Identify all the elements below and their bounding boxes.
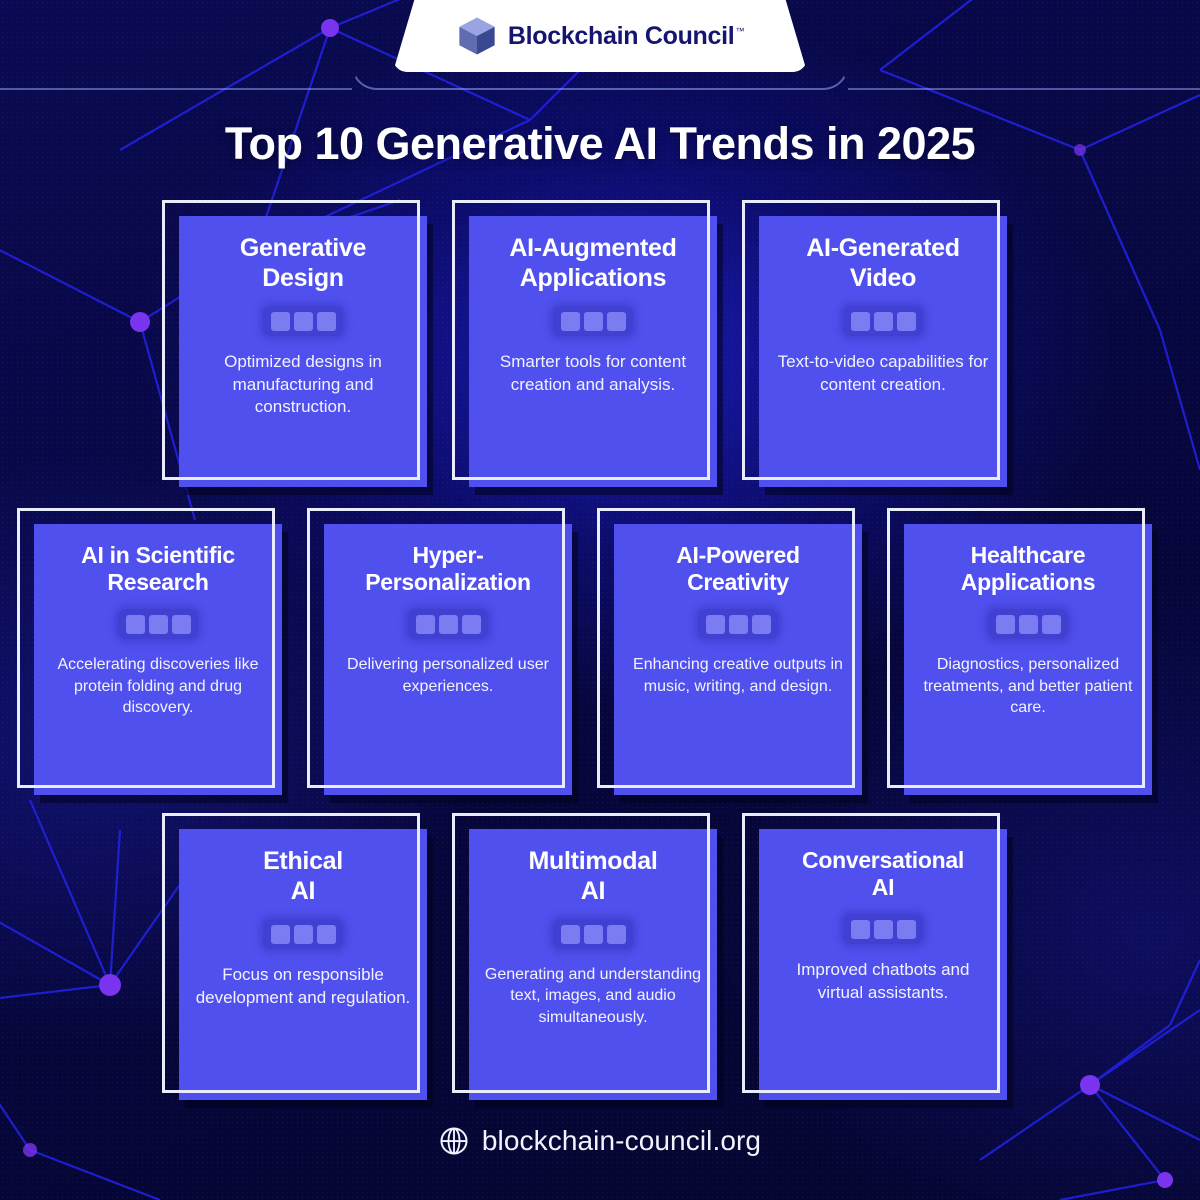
icon-square: [897, 920, 916, 939]
card-title-line: Ethical: [263, 847, 343, 877]
icon-square: [172, 615, 191, 634]
card-title-line: Creativity: [676, 569, 800, 596]
trend-card[interactable]: AI in Scientific Research Accelerating d…: [17, 508, 282, 795]
card-title: AI in Scientific Research: [81, 542, 235, 596]
three-squares-icon: [553, 919, 633, 949]
card-title: Hyper- Personalization: [365, 542, 531, 596]
card-title: AI-Generated Video: [806, 234, 959, 293]
card-title-line: Conversational: [802, 847, 964, 874]
card-title-line: Video: [806, 264, 959, 294]
icon-square: [294, 312, 313, 331]
trend-card[interactable]: Healthcare Applications Diagnostics, per…: [887, 508, 1152, 795]
card-description: Generating and understanding text, image…: [483, 964, 703, 1028]
logo-text-label: Blockchain Council: [508, 22, 735, 50]
trend-card[interactable]: Ethical AI Focus on responsible developm…: [162, 813, 427, 1100]
card-row-3: Ethical AI Focus on responsible developm…: [162, 813, 1007, 1100]
card-body: Hyper- Personalization Delivering person…: [324, 524, 572, 795]
brand-logo[interactable]: Blockchain Council™: [0, 0, 1200, 72]
trend-card[interactable]: AI-Generated Video Text-to-video capabil…: [742, 200, 1007, 487]
icon-square: [561, 312, 580, 331]
card-title: AI-Augmented Applications: [509, 234, 676, 293]
icon-square: [462, 615, 481, 634]
card-description: Accelerating discoveries like protein fo…: [48, 654, 268, 718]
three-squares-icon: [553, 306, 633, 336]
card-description: Focus on responsible development and reg…: [193, 964, 413, 1009]
trend-card[interactable]: Hyper- Personalization Delivering person…: [307, 508, 572, 795]
icon-square: [729, 615, 748, 634]
card-body: Generative Design Optimized designs in m…: [179, 216, 427, 487]
infographic-page: Blockchain Council™ Top 10 Generative AI…: [0, 0, 1200, 1200]
card-title-line: AI-Generated: [806, 234, 959, 264]
card-title-line: Research: [81, 569, 235, 596]
icon-square: [851, 312, 870, 331]
card-title-line: AI: [263, 877, 343, 907]
card-body: AI-Augmented Applications Smarter tools …: [469, 216, 717, 487]
icon-square: [851, 920, 870, 939]
card-row-2: AI in Scientific Research Accelerating d…: [17, 508, 1152, 795]
three-squares-icon: [118, 609, 198, 639]
icon-square: [897, 312, 916, 331]
icon-square: [874, 920, 893, 939]
card-title: Ethical AI: [263, 847, 343, 906]
icon-square: [584, 312, 603, 331]
page-title: Top 10 Generative AI Trends in 2025: [0, 118, 1200, 170]
icon-square: [271, 312, 290, 331]
three-squares-icon: [263, 306, 343, 336]
three-squares-icon: [698, 609, 778, 639]
globe-icon: [439, 1126, 469, 1156]
card-description: Diagnostics, personalized treatments, an…: [918, 654, 1138, 718]
icon-square: [1019, 615, 1038, 634]
cube-icon: [456, 15, 498, 57]
card-title: AI-Powered Creativity: [676, 542, 800, 596]
icon-square: [752, 615, 771, 634]
trend-card[interactable]: Conversational AI Improved chatbots and …: [742, 813, 1007, 1100]
icon-square: [317, 312, 336, 331]
icon-square: [607, 925, 626, 944]
card-title-line: AI in Scientific: [81, 542, 235, 569]
trend-card[interactable]: AI-Augmented Applications Smarter tools …: [452, 200, 717, 487]
trend-card[interactable]: AI-Powered Creativity Enhancing creative…: [597, 508, 862, 795]
footer[interactable]: blockchain-council.org: [0, 1125, 1200, 1157]
icon-square: [996, 615, 1015, 634]
card-description: Improved chatbots and virtual assistants…: [773, 959, 993, 1004]
card-title-line: Applications: [961, 569, 1095, 596]
icon-square: [706, 615, 725, 634]
card-body: AI-Generated Video Text-to-video capabil…: [759, 216, 1007, 487]
card-title-line: AI-Powered: [676, 542, 800, 569]
card-title-line: Applications: [509, 264, 676, 294]
card-description: Text-to-video capabilities for content c…: [773, 351, 993, 396]
icon-square: [126, 615, 145, 634]
card-title-line: Healthcare: [961, 542, 1095, 569]
card-title: Generative Design: [240, 234, 366, 293]
card-body: Conversational AI Improved chatbots and …: [759, 829, 1007, 1100]
icon-square: [584, 925, 603, 944]
card-description: Delivering personalized user experiences…: [338, 654, 558, 697]
icon-square: [561, 925, 580, 944]
three-squares-icon: [408, 609, 488, 639]
icon-square: [607, 312, 626, 331]
three-squares-icon: [988, 609, 1068, 639]
icon-square: [874, 312, 893, 331]
website-url: blockchain-council.org: [482, 1125, 761, 1157]
trademark-icon: ™: [735, 26, 744, 36]
icon-square: [271, 925, 290, 944]
three-squares-icon: [843, 914, 923, 944]
card-description: Enhancing creative outputs in music, wri…: [628, 654, 848, 697]
card-title: Healthcare Applications: [961, 542, 1095, 596]
icon-square: [439, 615, 458, 634]
icon-square: [294, 925, 313, 944]
card-title-line: AI: [529, 877, 658, 907]
card-row-1: Generative Design Optimized designs in m…: [162, 200, 1007, 487]
icon-square: [1042, 615, 1061, 634]
icon-square: [317, 925, 336, 944]
card-title-line: Design: [240, 264, 366, 294]
card-title-line: AI-Augmented: [509, 234, 676, 264]
card-description: Smarter tools for content creation and a…: [483, 351, 703, 396]
card-body: Healthcare Applications Diagnostics, per…: [904, 524, 1152, 795]
card-body: AI-Powered Creativity Enhancing creative…: [614, 524, 862, 795]
card-description: Optimized designs in manufacturing and c…: [193, 351, 413, 419]
card-title-line: Personalization: [365, 569, 531, 596]
trend-card[interactable]: Generative Design Optimized designs in m…: [162, 200, 427, 487]
three-squares-icon: [263, 919, 343, 949]
card-title-line: Generative: [240, 234, 366, 264]
card-title-line: Hyper-: [365, 542, 531, 569]
header-trace-line-right: [848, 88, 1200, 90]
card-body: Multimodal AI Generating and understandi…: [469, 829, 717, 1100]
header-trace-line-left: [0, 88, 352, 90]
icon-square: [149, 615, 168, 634]
card-title: Multimodal AI: [529, 847, 658, 906]
trend-card[interactable]: Multimodal AI Generating and understandi…: [452, 813, 717, 1100]
card-title-line: Multimodal: [529, 847, 658, 877]
icon-square: [416, 615, 435, 634]
card-title: Conversational AI: [802, 847, 964, 901]
card-body: AI in Scientific Research Accelerating d…: [34, 524, 282, 795]
logo-wordmark: Blockchain Council™: [508, 22, 744, 51]
card-body: Ethical AI Focus on responsible developm…: [179, 829, 427, 1100]
three-squares-icon: [843, 306, 923, 336]
card-title-line: AI: [802, 874, 964, 901]
